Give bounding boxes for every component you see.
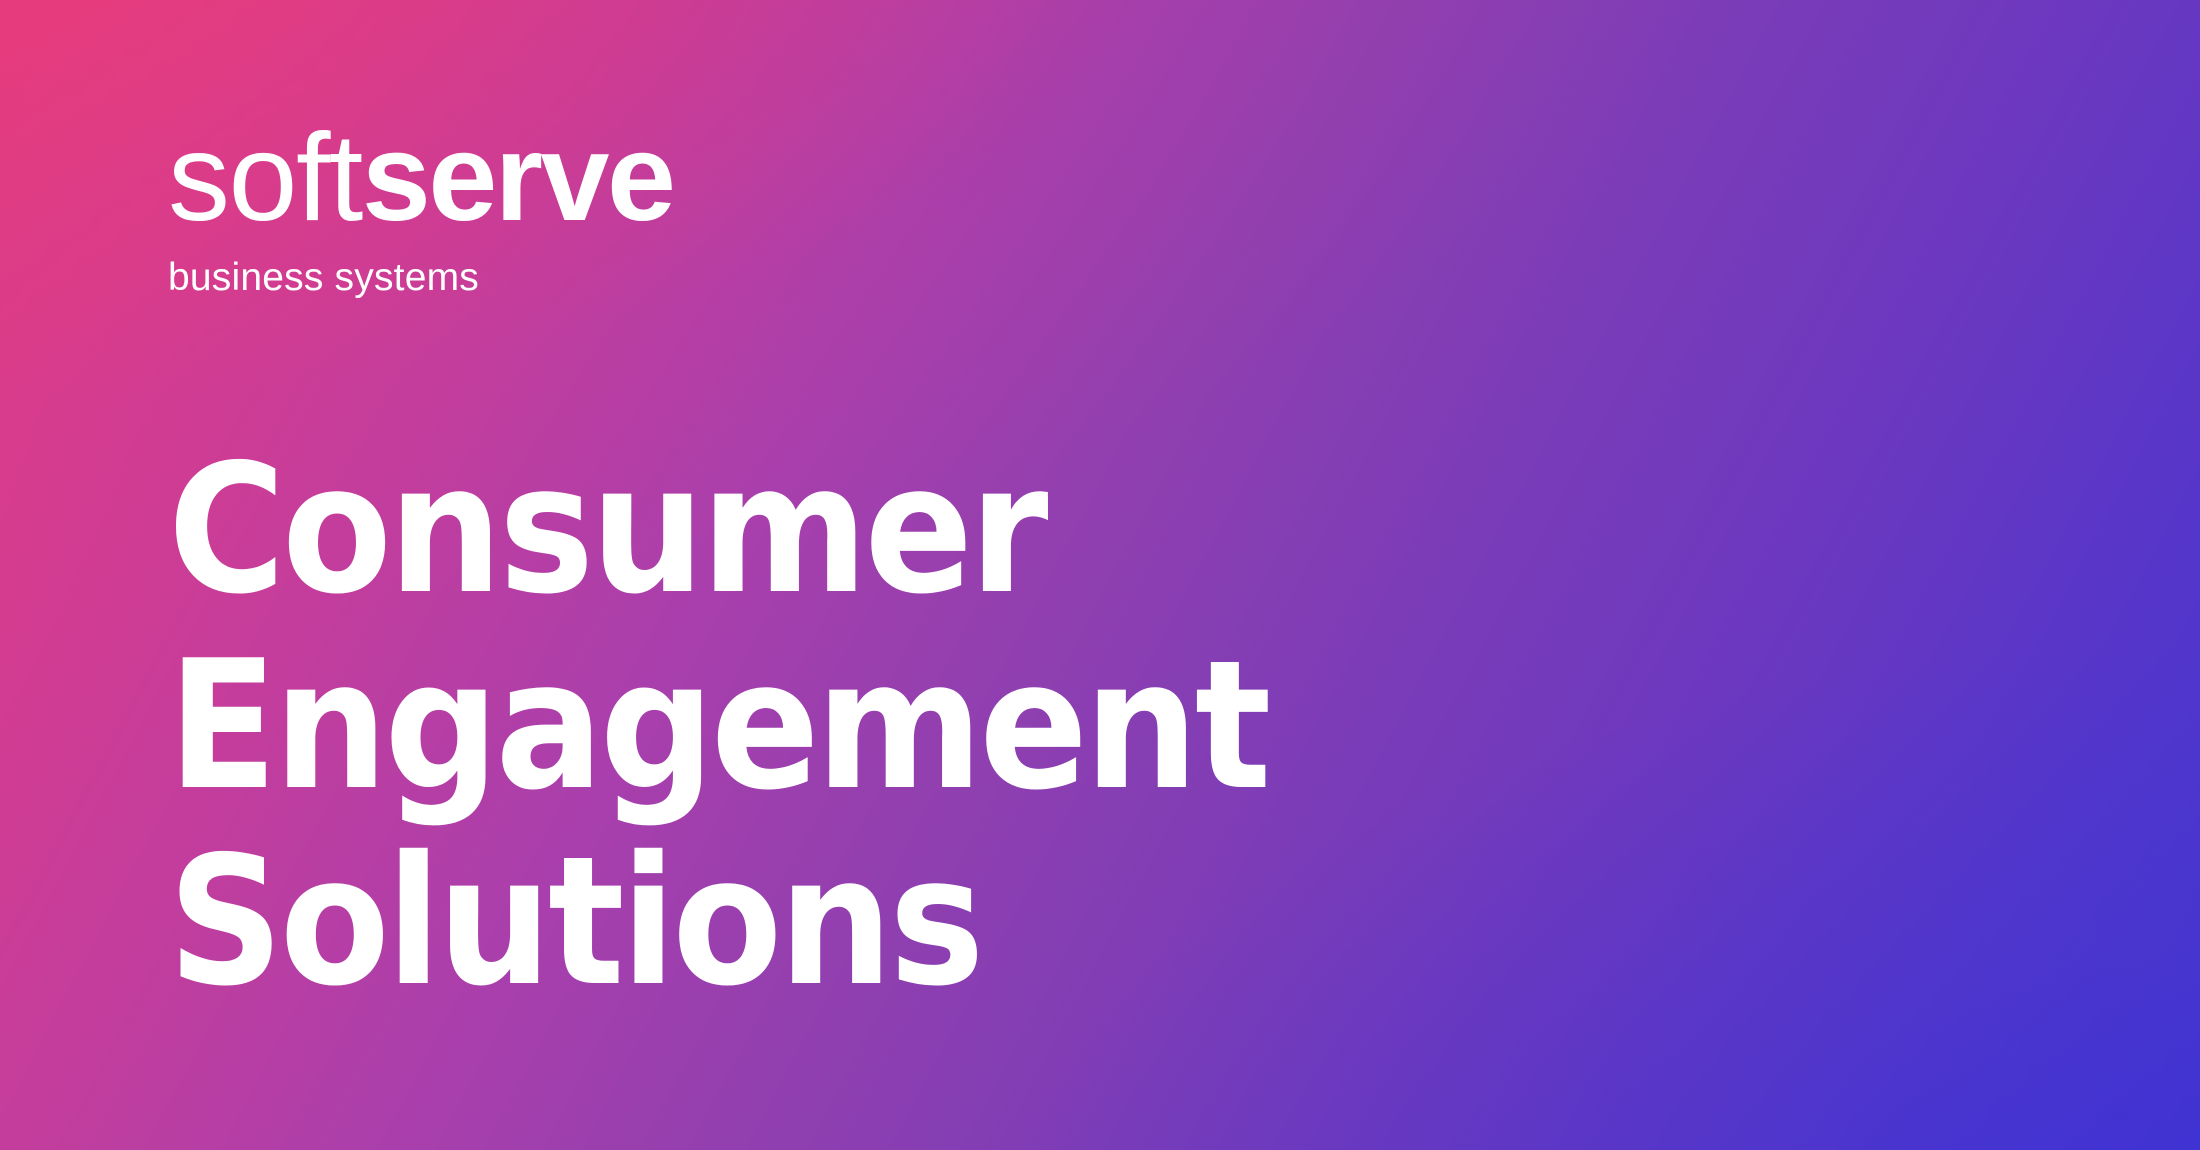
logo-wordmark-serve: serve: [362, 109, 674, 247]
title-slide: softserve business systems Consumer Enga…: [0, 0, 2200, 1150]
page-title: Consumer Engagement Solutions: [168, 432, 1390, 1020]
logo-wordmark-soft: soft: [168, 109, 362, 247]
softserve-logo: softserve business systems: [168, 116, 673, 297]
logo-tagline: business systems: [168, 258, 673, 297]
page-title-line-2: Engagement: [168, 628, 1268, 824]
page-title-line-3: Solutions: [168, 824, 1268, 1020]
page-title-line-1: Consumer: [168, 432, 1268, 628]
logo-wordmark: softserve: [168, 116, 673, 240]
